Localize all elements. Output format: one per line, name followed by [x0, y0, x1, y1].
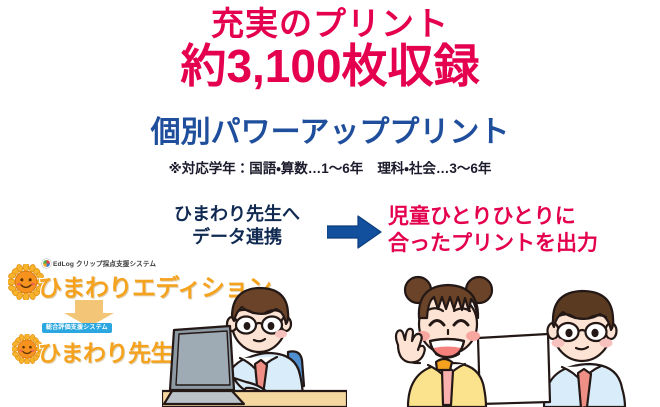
flow-right-caption-line-1: 児童ひとりひとりに [388, 203, 650, 230]
teacher-at-laptop-illustration [162, 282, 347, 407]
headline-line-2: 約3,100枚収録 [0, 41, 660, 92]
badge-edition-caption: EdLog クリップ採点支援システム [42, 258, 156, 268]
two-students-with-printout-illustration [392, 262, 654, 407]
edlog-logo-icon [42, 259, 51, 268]
subtitle-note: ※対応学年：国語・算数…1〜6年理科・社会…3〜6年 [0, 157, 660, 177]
badge-sensei-wordmark: ひまわり先生 [38, 334, 173, 368]
headline: 充実のプリント 約3,100枚収録 [0, 6, 660, 92]
subtitle-note-left: ※対応学年：国語・算数…1〜6年 [169, 161, 364, 176]
flow-left-caption: ひまわり先生へ データ連携 [152, 203, 322, 249]
headline-line-1: 充実のプリント [0, 6, 660, 43]
subtitle: 個別パワーアッププリント ※対応学年：国語・算数…1〜6年理科・社会…3〜6年 [0, 115, 660, 177]
subtitle-note-right: 理科・社会…3〜6年 [377, 161, 491, 176]
flow-left-caption-line-1: ひまわり先生へ [152, 203, 322, 226]
subtitle-main: 個別パワーアッププリント [0, 115, 660, 151]
arrow-right-icon [327, 213, 383, 251]
flow-right-caption: 児童ひとりひとりに 合ったプリントを出力 [388, 203, 650, 258]
badge-edition-caption-text: EdLog クリップ採点支援システム [53, 258, 156, 268]
poster-root: 充実のプリント 約3,100枚収録 個別パワーアッププリント ※対応学年：国語・… [0, 0, 660, 407]
flow-left-caption-line-2: データ連携 [152, 226, 322, 249]
flow-right-caption-line-2: 合ったプリントを出力 [388, 230, 650, 257]
badge-sensei-banner: 総合評価支援システム [42, 323, 112, 333]
